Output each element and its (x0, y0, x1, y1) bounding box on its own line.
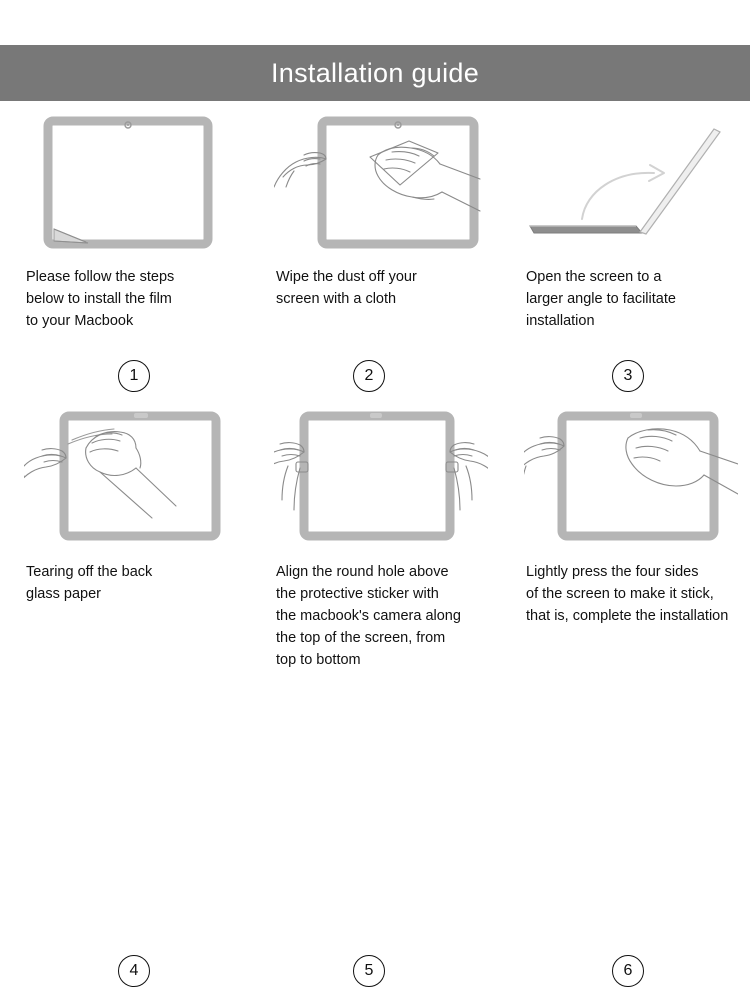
step-cell-6: Lightly press the four sides of the scre… (500, 410, 750, 705)
step-cell-5: Align the round hole above the protectiv… (250, 410, 500, 705)
steps-grid: Please follow the steps below to install… (0, 115, 750, 705)
step-3-text: Open the screen to a larger angle to fac… (526, 266, 676, 332)
step-badge-2: 2 (353, 360, 385, 392)
step-4-illustration (24, 410, 238, 545)
step-badge-3-number: 3 (624, 368, 633, 384)
step-cell-3: Open the screen to a larger angle to fac… (500, 115, 750, 410)
header-band: Installation guide (0, 45, 750, 101)
step-badge-1: 1 (118, 360, 150, 392)
step-badge-4: 4 (118, 955, 150, 987)
step-badge-6-number: 6 (624, 963, 633, 979)
step-badge-3: 3 (612, 360, 644, 392)
step-1-text: Please follow the steps below to install… (26, 266, 174, 332)
step-badge-5: 5 (353, 955, 385, 987)
step-2-illustration (274, 115, 488, 250)
step-badge-2-number: 2 (365, 368, 374, 384)
step-2-text: Wipe the dust off your screen with a clo… (276, 266, 417, 310)
step-cell-2: Wipe the dust off your screen with a clo… (250, 115, 500, 410)
step-5-illustration (274, 410, 488, 545)
step-cell-4: Tearing off the back glass paper 4 (0, 410, 250, 705)
step-3-illustration (524, 115, 738, 250)
page-title: Installation guide (271, 60, 479, 87)
step-6-illustration (524, 410, 738, 545)
step-5-text: Align the round hole above the protectiv… (276, 561, 461, 671)
step-6-text: Lightly press the four sides of the scre… (526, 561, 728, 627)
step-badge-5-number: 5 (365, 963, 374, 979)
step-badge-4-number: 4 (130, 963, 139, 979)
step-1-illustration (24, 115, 238, 250)
step-4-text: Tearing off the back glass paper (26, 561, 152, 605)
step-badge-1-number: 1 (130, 368, 139, 384)
step-badge-6: 6 (612, 955, 644, 987)
step-cell-1: Please follow the steps below to install… (0, 115, 250, 410)
